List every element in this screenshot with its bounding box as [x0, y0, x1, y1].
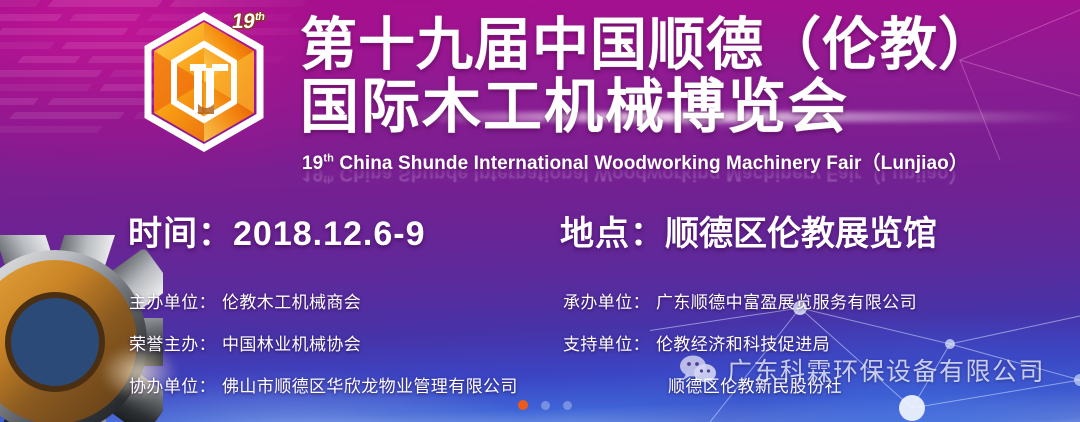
expo-banner: 19th 第十九届中国顺德（伦教） 国际木工机械博览会 19th China S…	[0, 0, 1080, 422]
place-value: 顺德区伦教展览馆	[665, 215, 937, 253]
carousel-dot-2[interactable]	[541, 401, 550, 410]
title-line-1: 第十九届中国顺德（伦教）	[300, 14, 1000, 76]
carousel-dot-3[interactable]	[563, 401, 572, 410]
event-time: 时间：2018.12.6-9	[128, 206, 426, 255]
edition-superscript: 19th	[230, 10, 265, 34]
watermark-text: 广东科霖环保设备有限公司	[727, 352, 1045, 388]
subtitle-rest: China Shunde International Woodworking M…	[334, 153, 968, 174]
time-label: 时间：	[128, 215, 233, 253]
edition-ordinal: th	[254, 11, 265, 23]
watermark: 广东科霖环保设备有限公司	[678, 352, 1045, 388]
subtitle-prefix: 19	[302, 153, 323, 174]
place-label: 地点：	[560, 215, 665, 253]
org-co-organizer: 协办单位：佛山市顺德区华欣龙物业管理有限公司	[129, 372, 518, 397]
org-undertaker: 承办单位：广东顺德中富盈展览服务有限公司	[563, 288, 917, 313]
edition-number: 19	[230, 10, 256, 33]
org-host: 主办单位：伦教木工机械商会	[129, 288, 361, 313]
page-title: 第十九届中国顺德（伦教） 国际木工机械博览会	[300, 14, 1000, 138]
carousel-dots[interactable]	[518, 400, 572, 410]
time-value: 2018.12.6-9	[233, 215, 426, 253]
subtitle-ordinal: th	[323, 153, 334, 165]
org-honorary-host: 荣誉主办：中国林业机械协会	[129, 330, 361, 355]
carousel-dot-1[interactable]	[518, 400, 528, 410]
event-info-row: 时间：2018.12.6-9 地点：顺德区伦教展览馆	[0, 206, 1080, 260]
event-place: 地点：顺德区伦教展览馆	[560, 206, 937, 255]
wechat-icon	[678, 355, 718, 385]
title-line-2: 国际木工机械博览会	[300, 76, 1000, 138]
subtitle-english: 19th China Shunde International Woodwork…	[302, 148, 968, 175]
